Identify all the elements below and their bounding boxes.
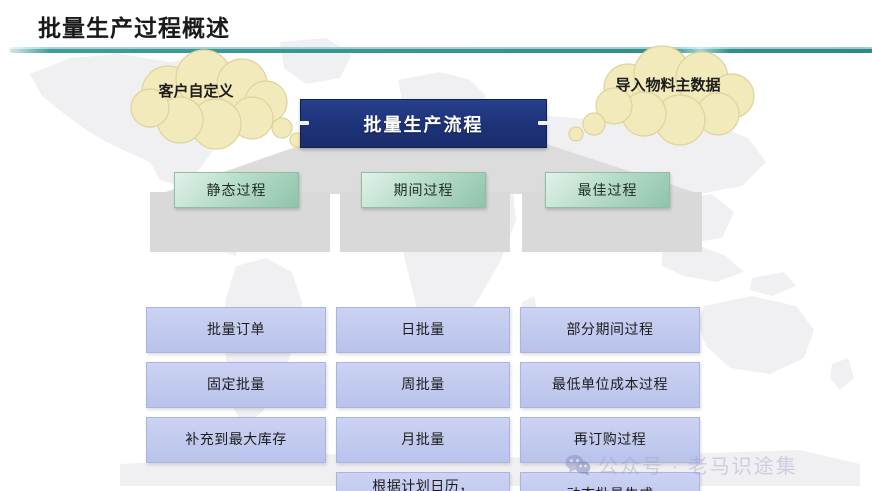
list-item-label: 最低单位成本过程 <box>552 376 668 394</box>
list-item-label: 补充到最大库存 <box>185 431 287 449</box>
list-item-label: 部分期间过程 <box>567 321 654 339</box>
column-header-label: 期间过程 <box>394 180 454 200</box>
list-item[interactable]: 部分期间过程 <box>520 307 700 353</box>
process-title-box[interactable]: 批量生产流程 <box>300 99 547 148</box>
column-header-optimal[interactable]: 最佳过程 <box>545 172 670 208</box>
list-item-label: 月批量 <box>401 431 445 449</box>
connector-nub-left <box>296 121 309 125</box>
column-header-static[interactable]: 静态过程 <box>174 172 299 208</box>
column-header-period[interactable]: 期间过程 <box>361 172 486 208</box>
thought-cloud-right-label: 导入物料主数据 <box>588 74 748 95</box>
column-header-label: 静态过程 <box>207 180 267 200</box>
process-column-optimal: 最佳过程 部分期间过程 最低单位成本过程 再订购过程 动态批量生成 <box>520 172 700 419</box>
process-column-period: 期间过程 日批量 周批量 月批量 根据计划日历， 设定灵活时期 <box>336 172 510 419</box>
list-item[interactable]: 周批量 <box>336 362 510 408</box>
list-item[interactable]: 再订购过程 <box>520 417 700 463</box>
list-item-label: 周批量 <box>401 376 445 394</box>
list-item[interactable]: 固定批量 <box>146 362 326 408</box>
page-title: 批量生产过程概述 <box>38 9 230 43</box>
thought-cloud-left-label: 客户自定义 <box>116 80 276 101</box>
thought-cloud-right: 导入物料主数据 <box>552 52 752 138</box>
list-item-label: 动态批量生成 <box>567 486 654 491</box>
slide-canvas: 批量生产过程概述 客户自定义 <box>0 0 872 491</box>
list-item[interactable]: 动态批量生成 <box>520 472 700 491</box>
process-title-label: 批量生产流程 <box>364 111 484 137</box>
list-item[interactable]: 最低单位成本过程 <box>520 362 700 408</box>
list-item-label: 批量订单 <box>207 321 265 339</box>
list-item-label: 根据计划日历， 设定灵活时期 <box>372 478 474 491</box>
connector-nub-right <box>538 121 551 125</box>
list-item[interactable]: 月批量 <box>336 417 510 463</box>
column-items-static: 批量订单 固定批量 补充到最大库存 <box>146 307 326 463</box>
process-column-static: 静态过程 批量订单 固定批量 补充到最大库存 <box>146 172 326 364</box>
list-item-label: 日批量 <box>401 321 445 339</box>
list-item-label: 再订购过程 <box>574 431 647 449</box>
thought-cloud-left: 客户自定义 <box>116 56 306 142</box>
list-item[interactable]: 补充到最大库存 <box>146 417 326 463</box>
column-items-period: 日批量 周批量 月批量 根据计划日历， 设定灵活时期 <box>336 307 510 491</box>
list-item-label: 固定批量 <box>207 376 265 394</box>
column-header-label: 最佳过程 <box>578 180 638 200</box>
list-item[interactable]: 根据计划日历， 设定灵活时期 <box>336 472 510 491</box>
list-item[interactable]: 日批量 <box>336 307 510 353</box>
list-item[interactable]: 批量订单 <box>146 307 326 353</box>
column-items-optimal: 部分期间过程 最低单位成本过程 再订购过程 动态批量生成 <box>520 307 700 491</box>
